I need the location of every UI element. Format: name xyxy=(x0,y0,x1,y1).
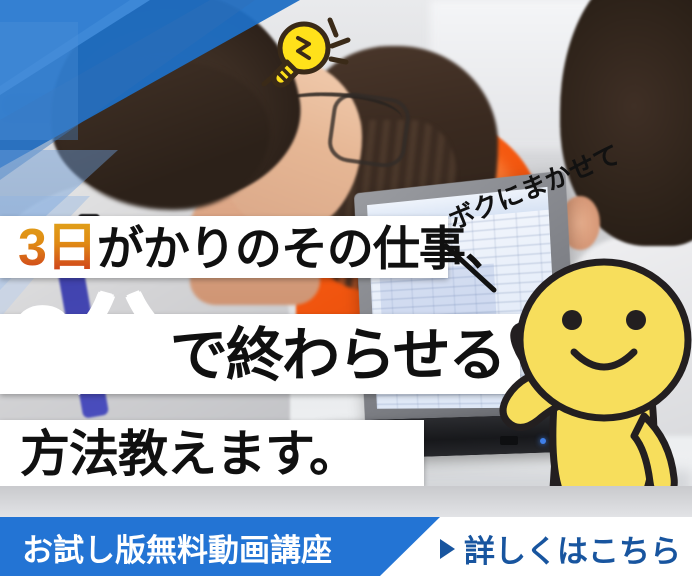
headline-line-2: 3分 で終わらせる xyxy=(14,296,505,396)
bottom-gray-strip xyxy=(0,486,692,517)
headline-line-1-highlight: 3日 xyxy=(18,219,97,277)
headline-line-2-rest: で終わらせる xyxy=(170,325,505,387)
lightbulb-icon xyxy=(252,4,364,90)
triangle-right-icon xyxy=(440,539,455,559)
headline-line-3: 方法教えます。 xyxy=(20,426,358,482)
headline-line-2-highlight-outline: 3分 xyxy=(14,296,168,396)
cta-primary-button[interactable]: お試し版無料動画講座 xyxy=(22,525,332,570)
cta-secondary-label: 詳しくはこちら xyxy=(464,526,681,571)
cta-secondary-button[interactable]: 詳しくはこちら xyxy=(440,526,681,571)
person-left-glasses-lens xyxy=(326,90,413,170)
advertisement-banner: 3日がかりのその仕事、 3分 で終わらせる 方法教えます。 ボクにまかせて xyxy=(0,0,692,576)
mascot-eye-right xyxy=(626,310,646,330)
headline-line-2-highlight: 3分 xyxy=(14,288,168,404)
mascot-eye-left xyxy=(562,310,582,330)
person-left-hair-shadow xyxy=(60,60,270,210)
headline-line-1: 3日がかりのその仕事、 xyxy=(18,222,511,275)
mascot-head xyxy=(520,262,688,418)
